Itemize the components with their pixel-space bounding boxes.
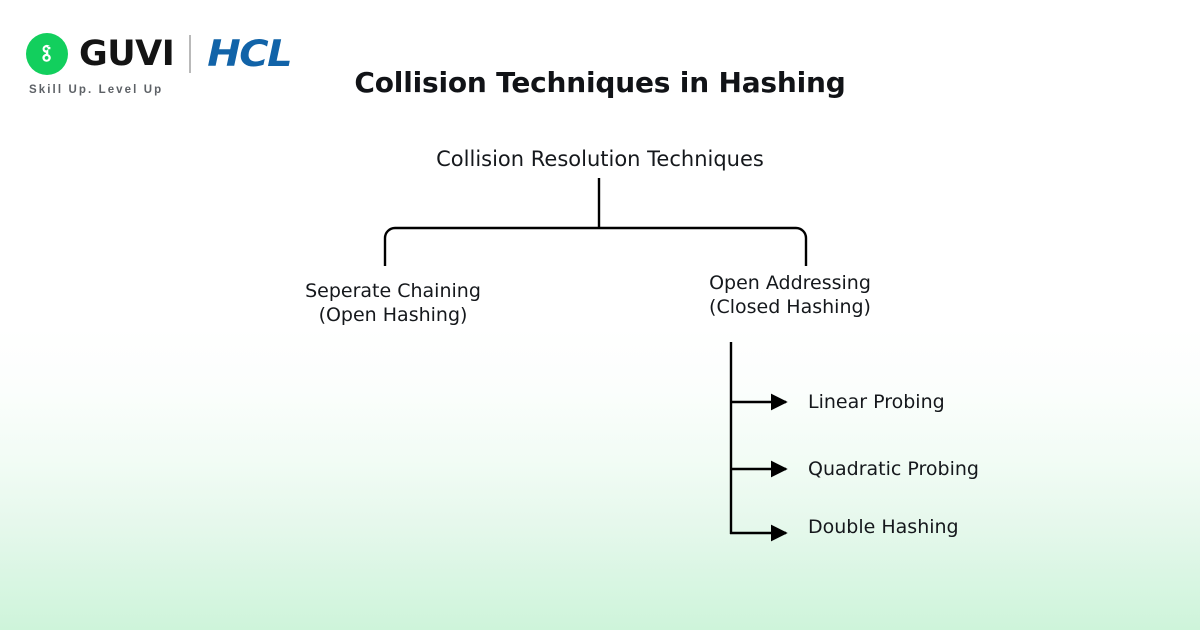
- node-open-addressing-line1: Open Addressing: [690, 271, 890, 295]
- slide-canvas: GUVI HCL Skill Up. Level Up Collision Te…: [0, 0, 1200, 630]
- node-open-addressing: Open Addressing (Closed Hashing): [690, 271, 890, 320]
- node-separate-chaining-line1: Seperate Chaining: [293, 279, 493, 303]
- node-root: Collision Resolution Techniques: [0, 146, 1200, 173]
- node-quadratic-probing: Quadratic Probing: [808, 457, 979, 481]
- diagram-connectors: [0, 0, 1200, 630]
- node-separate-chaining: Seperate Chaining (Open Hashing): [293, 279, 493, 328]
- node-double-hashing: Double Hashing: [808, 515, 959, 539]
- hierarchy-diagram: Collision Resolution Techniques Seperate…: [0, 0, 1200, 630]
- node-separate-chaining-line2: (Open Hashing): [293, 303, 493, 327]
- node-linear-probing: Linear Probing: [808, 390, 945, 414]
- node-open-addressing-line2: (Closed Hashing): [690, 295, 890, 319]
